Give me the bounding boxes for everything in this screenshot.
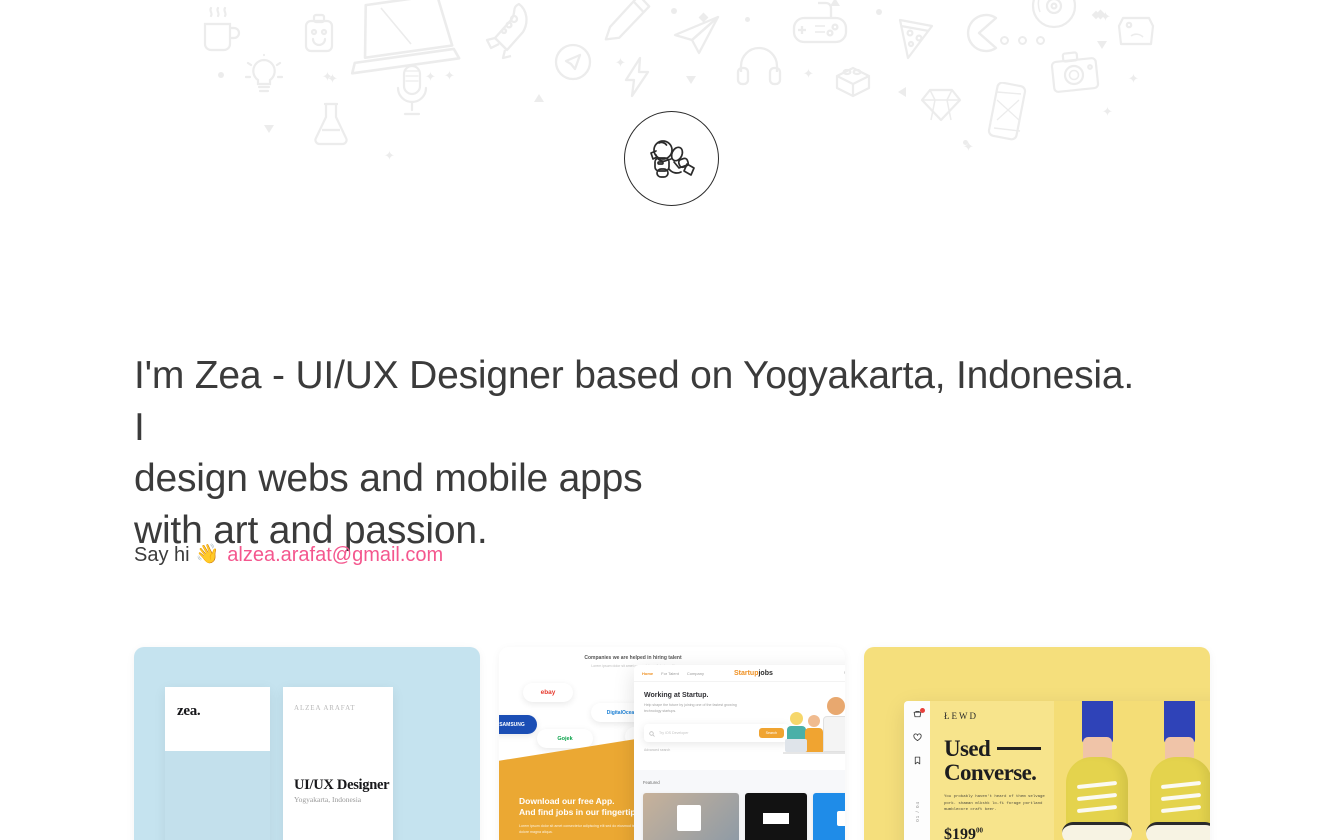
- business-card-front: zea.: [165, 687, 270, 840]
- person-name: ALZEA ARAFAT: [294, 704, 355, 712]
- dot-sparkle: [218, 72, 224, 78]
- converse-shop-card[interactable]: 01 / 04 ŁEWD Used Converse. You probably…: [864, 647, 1210, 840]
- triangle-sparkle: [264, 125, 274, 133]
- pizza-icon: [892, 14, 938, 62]
- lightbulb-icon: [245, 53, 283, 97]
- paint-palette-icon: [1115, 10, 1157, 50]
- shoe-lace: [1161, 781, 1201, 789]
- logo-gojek: Gojek: [537, 729, 593, 748]
- branding-card[interactable]: zea. ALZEA ARAFAT UI/UX Designer Yogyaka…: [134, 647, 480, 840]
- square-sparkle: [1096, 10, 1106, 20]
- startupjobs-browser-mock: Home For Talent Company Startupjobs Sign…: [634, 665, 845, 840]
- nav-company[interactable]: Company: [687, 671, 704, 676]
- diamond-icon: [920, 84, 962, 124]
- headline-line-1: I'm Zea - UI/UX Designer based on Yogyak…: [134, 354, 1134, 449]
- bookmark-icon[interactable]: [913, 756, 922, 767]
- waving-hand-icon: 👋: [196, 541, 220, 569]
- logo-circle: [624, 111, 719, 206]
- title-dash: [997, 747, 1041, 750]
- hero-body: Help shape the future by joining one of …: [644, 703, 744, 714]
- astronaut-logo[interactable]: [624, 111, 719, 206]
- coffee-mug-icon: [196, 6, 242, 54]
- gamepad-icon: [791, 0, 849, 50]
- price-value: $199: [944, 826, 976, 840]
- converse-browser-mock: 01 / 04 ŁEWD Used Converse. You probably…: [904, 701, 1210, 840]
- portfolio-cards: zea. ALZEA ARAFAT UI/UX Designer Yogyaka…: [134, 647, 1210, 840]
- square-sparkle: [699, 13, 709, 23]
- pacman-dot: [1036, 36, 1045, 45]
- page-title: I'm Zea - UI/UX Designer based on Yogyak…: [134, 350, 1144, 556]
- site-brand: Startupjobs: [734, 670, 773, 677]
- heart-icon[interactable]: [913, 733, 922, 744]
- star-sparkle: ✦: [384, 149, 395, 162]
- flask-icon: [312, 100, 350, 146]
- nav-for-talent[interactable]: For Talent: [661, 671, 679, 676]
- brand-mark: zea.: [177, 703, 200, 720]
- left-shoe: [1066, 757, 1128, 840]
- converse-product-photo: [1054, 701, 1210, 840]
- laptop-icon: [345, 0, 463, 78]
- product-title-line-1: Used: [944, 736, 990, 761]
- featured-item[interactable]: UI/UX Designer Lorem Ipsum Full Time • J…: [643, 793, 739, 840]
- square-sparkle: [1092, 11, 1100, 19]
- shoe-lace: [1161, 793, 1201, 801]
- pacman-dot: [1018, 36, 1027, 45]
- lightning-bolt-icon: [622, 56, 652, 98]
- site-hero: Working at Startup. Help shape the futur…: [634, 682, 845, 770]
- triangle-sparkle: [898, 87, 906, 97]
- shoe-lace: [1077, 781, 1117, 789]
- sign-in-link[interactable]: Sign In: [844, 671, 845, 675]
- person-2: [805, 715, 823, 752]
- star-sparkle: ✦: [444, 69, 455, 82]
- star-sparkle: ✦: [425, 70, 436, 83]
- headline-line-2: design webs and mobile apps: [134, 453, 1144, 505]
- triangle-sparkle: [534, 94, 544, 102]
- brand-part-2: jobs: [758, 670, 772, 677]
- search-button[interactable]: Search: [759, 728, 784, 738]
- rocket-icon: [481, 0, 535, 62]
- cart-icon[interactable]: [913, 710, 922, 721]
- triangle-sparkle: [686, 76, 696, 84]
- dot-sparkle: [745, 17, 750, 22]
- right-shoe: [1150, 757, 1210, 840]
- featured-item[interactable]: Front-end Developer Lorem Ipsum Full Tim…: [745, 793, 807, 840]
- dot-sparkle: [876, 9, 882, 15]
- pencil-icon: [604, 0, 652, 54]
- star-sparkle: ✦: [1128, 72, 1139, 85]
- featured-section: Featured See More UI/UX Designer Lorem I…: [634, 770, 845, 840]
- shoe-sole: [1062, 822, 1132, 840]
- email-link[interactable]: alzea.arafat@gmail.com: [227, 541, 443, 569]
- logo-samsung: SAMSUNG: [499, 715, 537, 734]
- star-sparkle: ✦: [1100, 10, 1111, 23]
- cart-badge-dot: [920, 708, 925, 713]
- product-title-line-2: Converse.: [944, 760, 1036, 785]
- shop-side-rail: 01 / 04: [904, 701, 930, 840]
- lego-brick-icon: [833, 62, 873, 100]
- triangle-sparkle: [830, 0, 840, 6]
- dot-sparkle: [963, 140, 968, 145]
- pacman-dot: [1000, 36, 1009, 45]
- job-search-bar[interactable]: Try iOS Developer Search: [644, 724, 789, 742]
- featured-grid: UI/UX Designer Lorem Ipsum Full Time • J…: [643, 793, 845, 840]
- lego-head-icon: [301, 13, 337, 55]
- startupjobs-card[interactable]: Companies we are helped in hiring talent…: [499, 647, 845, 840]
- person-3: [823, 697, 845, 752]
- shoe-lace: [1077, 805, 1117, 813]
- compass-icon: [553, 42, 593, 82]
- triangle-sparkle: [1097, 41, 1107, 49]
- pacman-icon: [958, 12, 1000, 54]
- person-location: Yogyakarta, Indonesia: [294, 795, 361, 804]
- logos-heading: Companies we are helped in hiring talent: [499, 655, 767, 661]
- portfolio-landing-page: ✦ ✦ ✦ ✦ ✦ ✦ ✦ ✦ ✦ ✦ ✦: [0, 0, 1344, 840]
- say-hi-label: Say hi: [134, 541, 190, 569]
- nav-home[interactable]: Home: [642, 671, 653, 676]
- shoe-lace: [1077, 793, 1117, 801]
- price-cents: 00: [976, 826, 983, 834]
- camera-icon: [1050, 50, 1100, 94]
- featured-label: Featured: [643, 780, 660, 785]
- star-sparkle: ✦: [327, 72, 338, 85]
- astronaut-icon: [644, 131, 700, 187]
- contact-line: Say hi 👋 alzea.arafat@gmail.com: [134, 541, 443, 569]
- business-card-back: ALZEA ARAFAT UI/UX Designer Yogyakarta, …: [283, 687, 393, 840]
- featured-header: Featured See More: [643, 777, 845, 787]
- team-illustration: [783, 694, 845, 762]
- carousel-pager: 01 / 04: [915, 801, 920, 822]
- microphone-icon: [392, 62, 432, 120]
- search-icon: [649, 724, 655, 742]
- star-sparkle: ✦: [963, 140, 974, 153]
- star-sparkle: ✦: [615, 56, 626, 69]
- logo-ebay: ebay: [523, 683, 573, 702]
- star-sparkle: ✦: [803, 67, 814, 80]
- shoe-lace: [1161, 805, 1201, 813]
- star-sparkle: ✦: [322, 70, 333, 83]
- product-description: You probably haven't heard of them selva…: [944, 794, 1052, 814]
- search-placeholder: Try iOS Developer: [659, 731, 755, 735]
- site-navbar: Home For Talent Company Startupjobs Sign…: [634, 665, 845, 682]
- shoe-sole: [1146, 822, 1210, 840]
- star-sparkle: ✦: [1102, 105, 1113, 118]
- smartphone-icon: [985, 82, 1029, 142]
- brand-part-1: Startup: [734, 670, 759, 677]
- person-role: UI/UX Designer: [294, 777, 389, 794]
- paper-plane-icon: [672, 14, 722, 56]
- cd-disc-icon: [1030, 0, 1078, 30]
- featured-item[interactable]: Senior Developer Lorem Ipsum Remote • Pa…: [813, 793, 845, 840]
- dot-sparkle: [671, 8, 677, 14]
- headphones-icon: [736, 44, 782, 86]
